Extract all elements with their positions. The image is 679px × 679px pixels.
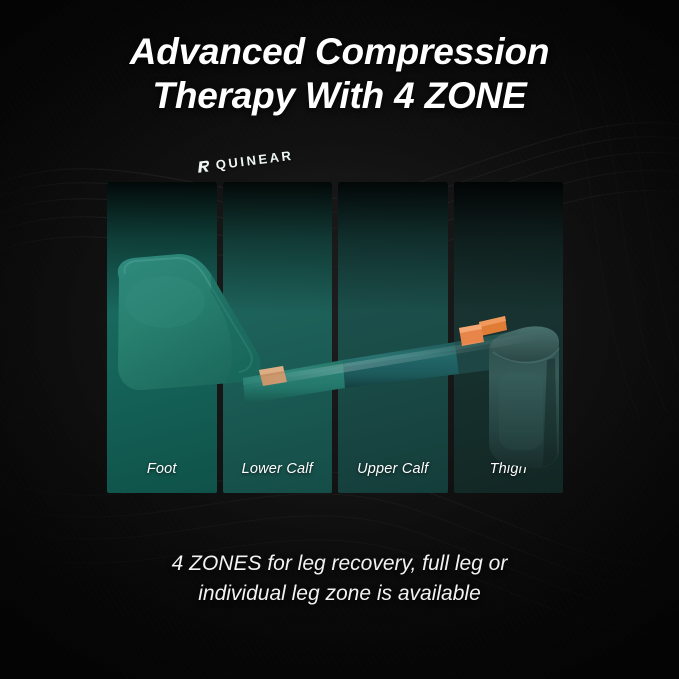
- zone-panel-lower-calf[interactable]: Lower Calf: [223, 182, 333, 493]
- zone-panel-group: Foot Lower Calf Upper Calf Thigh: [107, 182, 563, 493]
- product-feature-graphic: Advanced Compression Therapy With 4 ZONE…: [0, 0, 679, 679]
- panel-top-shade: [107, 182, 217, 493]
- zone-label-upper-calf: Upper Calf: [338, 461, 448, 477]
- zone-label-lower-calf: Lower Calf: [223, 461, 333, 477]
- page-title: Advanced Compression Therapy With 4 ZONE: [0, 30, 679, 117]
- zone-label-foot: Foot: [107, 461, 217, 477]
- caption-text: 4 ZONES for leg recovery, full leg or in…: [0, 549, 679, 609]
- panel-top-shade: [223, 182, 333, 493]
- quinear-r-logo-icon: [195, 159, 212, 174]
- zone-panel-thigh[interactable]: Thigh: [454, 182, 564, 493]
- panel-top-shade: [338, 182, 448, 493]
- panel-top-shade: [454, 182, 564, 493]
- zone-panel-foot[interactable]: Foot: [107, 182, 217, 493]
- zone-label-thigh: Thigh: [454, 461, 564, 477]
- zone-panel-upper-calf[interactable]: Upper Calf: [338, 182, 448, 493]
